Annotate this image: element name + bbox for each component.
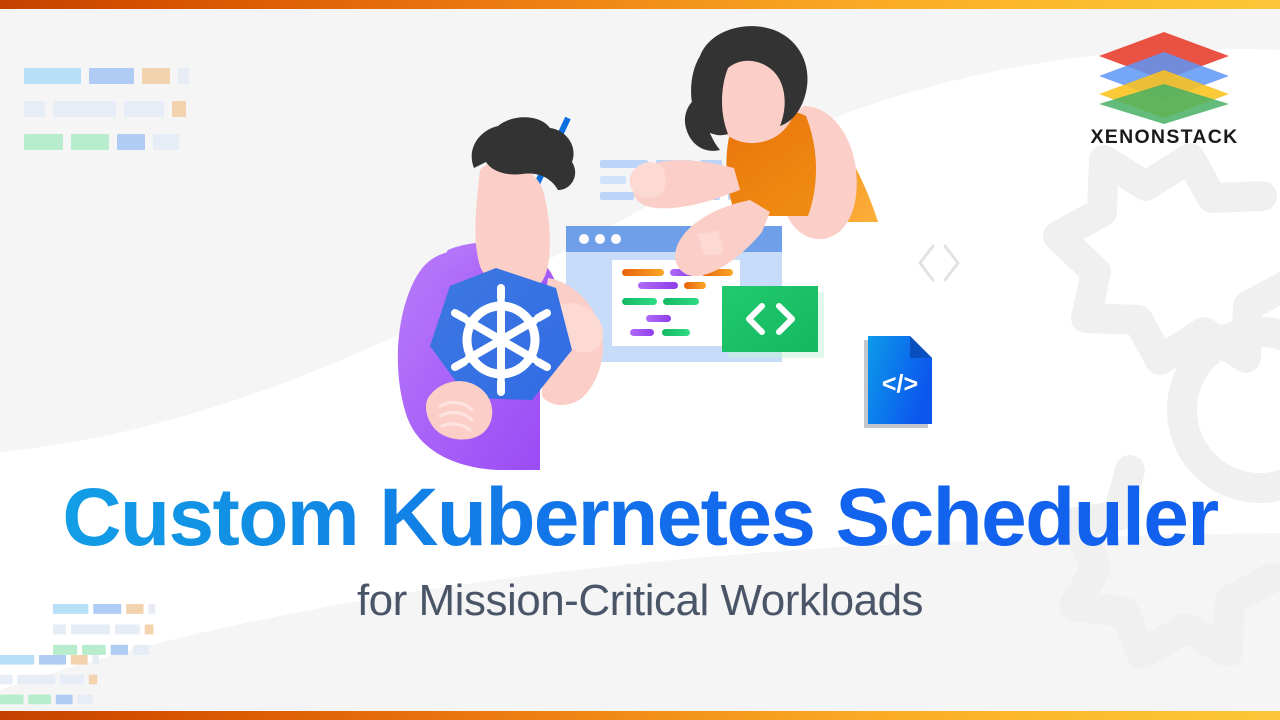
banner-canvas: </> — [0, 0, 1280, 720]
decor-bar — [24, 101, 45, 117]
decor-bar — [77, 695, 93, 705]
decor-bar — [82, 645, 106, 655]
top-left-bar-cluster — [24, 68, 189, 167]
decor-bar-row — [0, 655, 99, 665]
decor-bar — [17, 675, 55, 685]
bottom-accent-bar — [0, 711, 1280, 720]
decor-bar-row — [0, 695, 99, 705]
decor-bar — [89, 675, 97, 685]
decor-bar — [60, 675, 84, 685]
page-title: Custom Kubernetes Scheduler — [0, 476, 1280, 560]
decor-bar — [28, 695, 51, 705]
green-code-brackets-card — [722, 286, 824, 358]
decor-bar — [71, 624, 110, 634]
decor-bar — [24, 134, 63, 150]
decor-bar — [172, 101, 186, 117]
corner-left-bar-cluster — [0, 655, 99, 714]
decor-bar — [0, 655, 34, 665]
decor-bar — [71, 134, 109, 150]
decor-bar — [124, 101, 164, 117]
decor-bar — [178, 68, 189, 84]
decor-bar — [153, 134, 179, 150]
decor-bar-row — [24, 101, 189, 117]
decor-bar — [133, 645, 149, 655]
logo-wordmark: XENONSTACK — [1077, 126, 1252, 149]
file-icon-glyph: </> — [882, 370, 918, 398]
headline-block: Custom Kubernetes Scheduler for Mission-… — [0, 476, 1280, 626]
decor-bar-row — [0, 675, 99, 685]
decor-bar — [142, 68, 170, 84]
decor-bar — [0, 695, 23, 705]
decor-bar — [53, 645, 77, 655]
man-holding-kubernetes-logo — [398, 117, 603, 470]
decor-bar — [24, 68, 81, 84]
page-subtitle: for Mission-Critical Workloads — [0, 576, 1280, 626]
decor-bar — [111, 645, 128, 655]
stacked-layers-logo — [1077, 26, 1252, 124]
decor-bar — [56, 695, 73, 705]
developer-kubernetes-illustration: </> — [300, 10, 960, 470]
decor-bar-row — [53, 624, 155, 634]
browser-dot — [595, 234, 605, 244]
blue-code-file-icon: </> — [864, 336, 932, 428]
browser-dot — [611, 234, 621, 244]
xenonstack-logo[interactable]: XENONSTACK — [1077, 26, 1252, 149]
decor-bar — [89, 68, 134, 84]
decor-bar-row — [53, 645, 155, 655]
decor-bar — [53, 101, 116, 117]
decor-bar — [71, 655, 88, 665]
decor-bar-row — [24, 68, 189, 84]
decor-bar — [115, 624, 140, 634]
browser-dot — [579, 234, 589, 244]
decor-bar — [0, 675, 13, 685]
top-accent-bar — [0, 0, 1280, 9]
decor-bar — [145, 624, 154, 634]
decor-bar — [117, 134, 145, 150]
decor-bar — [92, 655, 99, 665]
decor-bar — [39, 655, 66, 665]
decor-bar-row — [24, 134, 189, 150]
decor-bar — [53, 624, 66, 634]
